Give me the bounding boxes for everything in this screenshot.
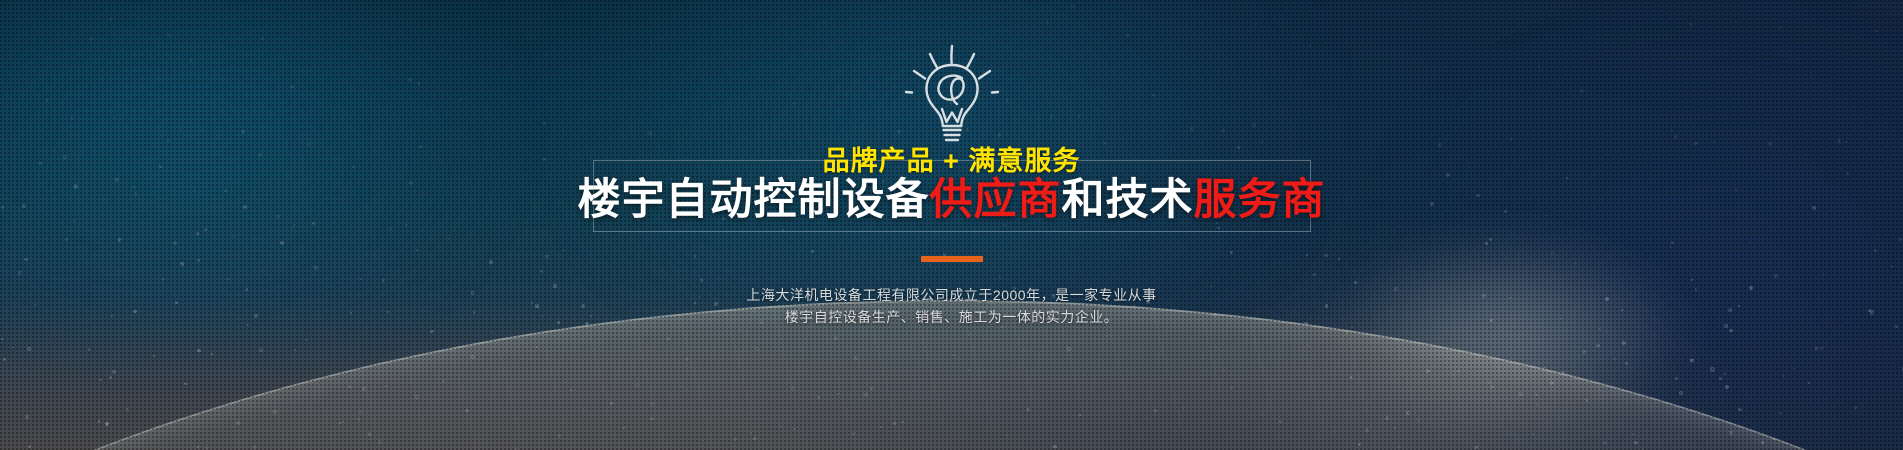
lightbulb-e-icon: [896, 42, 1008, 146]
description-line-1: 上海大洋机电设备工程有限公司成立于2000年，是一家专业从事: [746, 284, 1156, 306]
hero-banner: 品牌产品 + 满意服务 楼宇自动控制设备供应商和技术服务商 上海大洋机电设备工程…: [0, 0, 1903, 450]
headline-part-1: 楼宇自动控制设备: [578, 176, 930, 224]
description-line-2: 楼宇自控设备生产、销售、施工为一体的实力企业。: [746, 306, 1156, 328]
banner-content: 品牌产品 + 满意服务 楼宇自动控制设备供应商和技术服务商 上海大洋机电设备工程…: [0, 0, 1903, 450]
headline-frame: 品牌产品 + 满意服务 楼宇自动控制设备供应商和技术服务商: [593, 160, 1311, 232]
banner-description: 上海大洋机电设备工程有限公司成立于2000年，是一家专业从事 楼宇自控设备生产、…: [746, 284, 1156, 328]
banner-headline: 楼宇自动控制设备供应商和技术服务商: [578, 165, 1326, 227]
headline-part-4: 服务商: [1194, 176, 1326, 224]
headline-part-3: 和技术: [1062, 176, 1194, 224]
headline-part-2: 供应商: [930, 176, 1062, 224]
orange-divider: [921, 256, 983, 262]
